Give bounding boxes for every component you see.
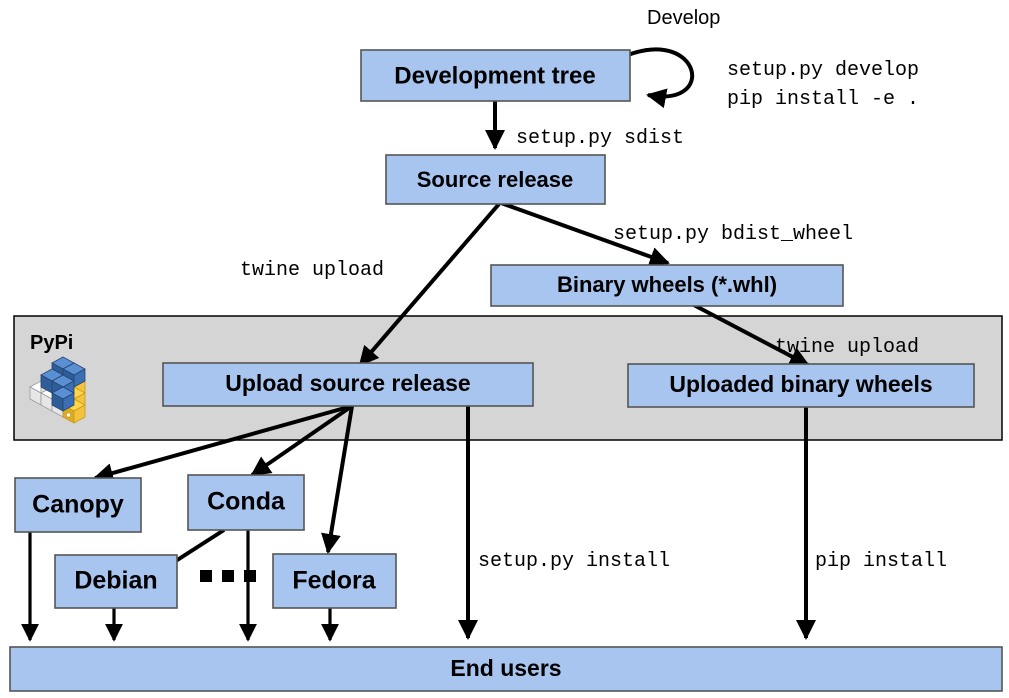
edge-label-setup-py-sdist: setup.py sdist: [516, 127, 684, 150]
node-uploaded-binary-wheels-label: Uploaded binary wheels: [669, 371, 932, 397]
node-development-tree[interactable]: Development tree: [361, 50, 630, 101]
node-source-release[interactable]: Source release: [386, 155, 605, 204]
node-binary-wheels-label: Binary wheels (*.whl): [557, 272, 777, 297]
node-canopy-label: Canopy: [32, 491, 124, 519]
edge-label-twine-upload-source: twine upload: [240, 259, 384, 282]
node-conda-label: Conda: [207, 488, 286, 516]
node-source-release-label: Source release: [417, 167, 574, 192]
diagram-canvas: PyPi: [0, 0, 1009, 698]
edge-label-twine-upload-wheels: twine upload: [775, 336, 919, 359]
node-upload-source-release-label: Upload source release: [225, 370, 470, 396]
pypi-group-label: PyPi: [30, 332, 73, 354]
edge-label-setup-py-install: setup.py install: [478, 550, 670, 573]
edge-label-setup-py-bdist-wheel: setup.py bdist_wheel: [613, 223, 853, 246]
node-binary-wheels[interactable]: Binary wheels (*.whl): [491, 265, 843, 306]
node-fedora[interactable]: Fedora: [273, 554, 396, 608]
node-end-users[interactable]: End users: [10, 647, 1002, 691]
packaging-flow-diagram: PyPi: [0, 0, 1009, 698]
node-end-users-label: End users: [450, 655, 561, 681]
edge-develop-self-loop: [628, 49, 692, 96]
node-canopy[interactable]: Canopy: [15, 478, 141, 532]
edge-label-setup-py-develop: setup.py develop: [727, 59, 919, 82]
node-fedora-label: Fedora: [292, 567, 376, 595]
node-uploaded-binary-wheels[interactable]: Uploaded binary wheels: [628, 364, 974, 407]
node-debian[interactable]: Debian: [55, 555, 177, 608]
ellipsis-dots: [200, 570, 256, 582]
node-development-tree-label: Development tree: [394, 62, 595, 89]
node-upload-source-release[interactable]: Upload source release: [163, 363, 533, 406]
edge-label-pip-install-editable: pip install -e .: [727, 88, 919, 111]
edge-label-pip-install: pip install: [815, 550, 947, 573]
node-conda[interactable]: Conda: [188, 475, 304, 530]
edge-label-develop: Develop: [647, 7, 720, 29]
node-debian-label: Debian: [74, 567, 157, 595]
